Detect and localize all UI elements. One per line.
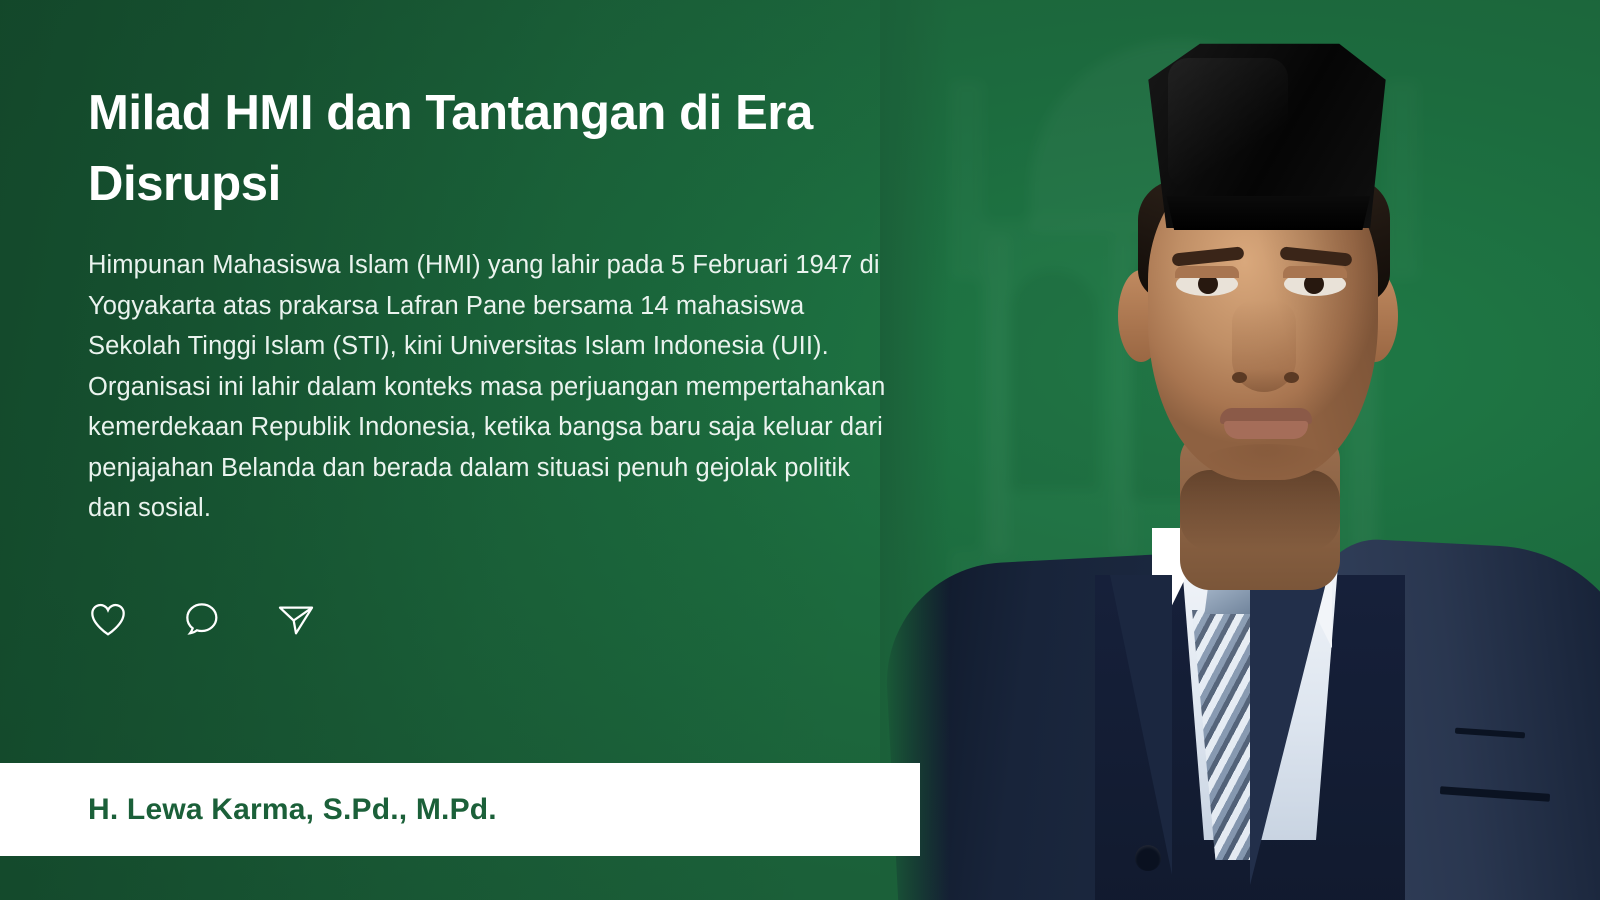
nostril-left xyxy=(1232,372,1247,383)
eyelid-left xyxy=(1175,266,1239,278)
page-title: Milad HMI dan Tantangan di Era Disrupsi xyxy=(88,78,958,219)
comment-bubble-icon[interactable] xyxy=(182,600,222,638)
social-media-quote-card: Milad HMI dan Tantangan di Era Disrupsi … xyxy=(0,0,1600,900)
lower-lip xyxy=(1224,421,1308,439)
neck-shadow xyxy=(1180,470,1340,550)
author-name-bar: H. Lewa Karma, S.Pd., M.Pd. xyxy=(0,763,920,856)
social-action-row xyxy=(88,600,316,638)
peci-highlight xyxy=(1168,58,1288,188)
suit-lapel-right xyxy=(1250,575,1328,885)
paper-plane-icon[interactable] xyxy=(276,600,316,638)
suit-button xyxy=(1135,845,1161,871)
heart-icon[interactable] xyxy=(88,600,128,638)
peci-brim xyxy=(1138,196,1396,230)
body-paragraph: Himpunan Mahasiswa Islam (HMI) yang lahi… xyxy=(88,245,888,529)
text-column: Milad HMI dan Tantangan di Era Disrupsi … xyxy=(88,78,968,529)
nostril-right xyxy=(1284,372,1299,383)
author-name: H. Lewa Karma, S.Pd., M.Pd. xyxy=(88,793,497,827)
suit-lapel-left xyxy=(1110,575,1172,875)
eyelid-right xyxy=(1283,266,1347,278)
chin xyxy=(1202,444,1332,480)
portrait-photo xyxy=(880,0,1600,900)
